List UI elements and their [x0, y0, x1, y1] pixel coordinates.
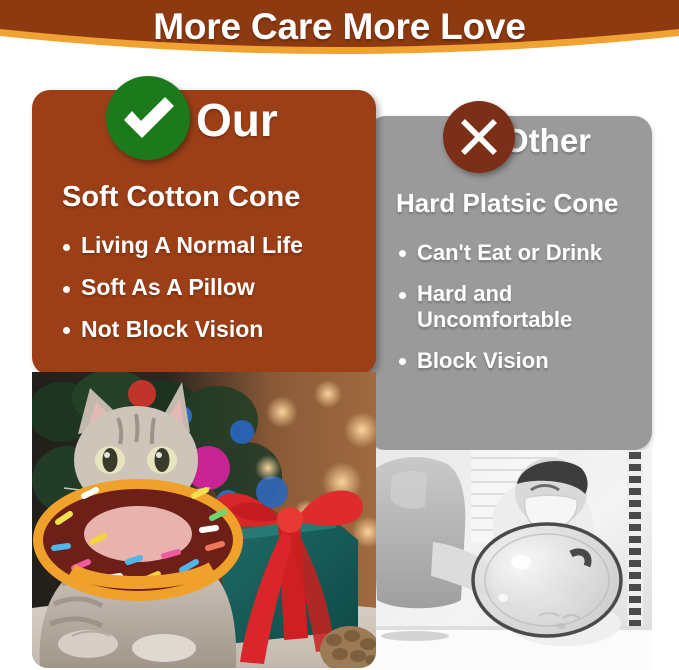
list-item: Soft As A Pillow: [62, 275, 362, 300]
list-item: Not Block Vision: [62, 317, 362, 342]
our-subtitle: Soft Cotton Cone: [62, 181, 300, 214]
header-banner: More Care More Love: [0, 0, 679, 68]
other-photo: [375, 450, 652, 670]
list-item: Block Vision: [398, 348, 644, 373]
our-photo: [32, 372, 376, 668]
other-feature-list: Can't Eat or Drink Hard and Uncomfortabl…: [398, 240, 644, 389]
other-subtitle: Hard Platsic Cone: [396, 188, 619, 219]
list-item: Living A Normal Life: [62, 233, 362, 258]
page-title: More Care More Love: [0, 6, 679, 48]
check-circle-icon: [106, 76, 190, 160]
our-heading: Our: [196, 93, 278, 147]
list-item: Hard and Uncomfortable: [398, 281, 644, 332]
other-heading: Other: [503, 122, 591, 160]
x-circle-icon: [443, 101, 515, 173]
list-item: Can't Eat or Drink: [398, 240, 644, 265]
our-feature-list: Living A Normal Life Soft As A Pillow No…: [62, 233, 362, 358]
